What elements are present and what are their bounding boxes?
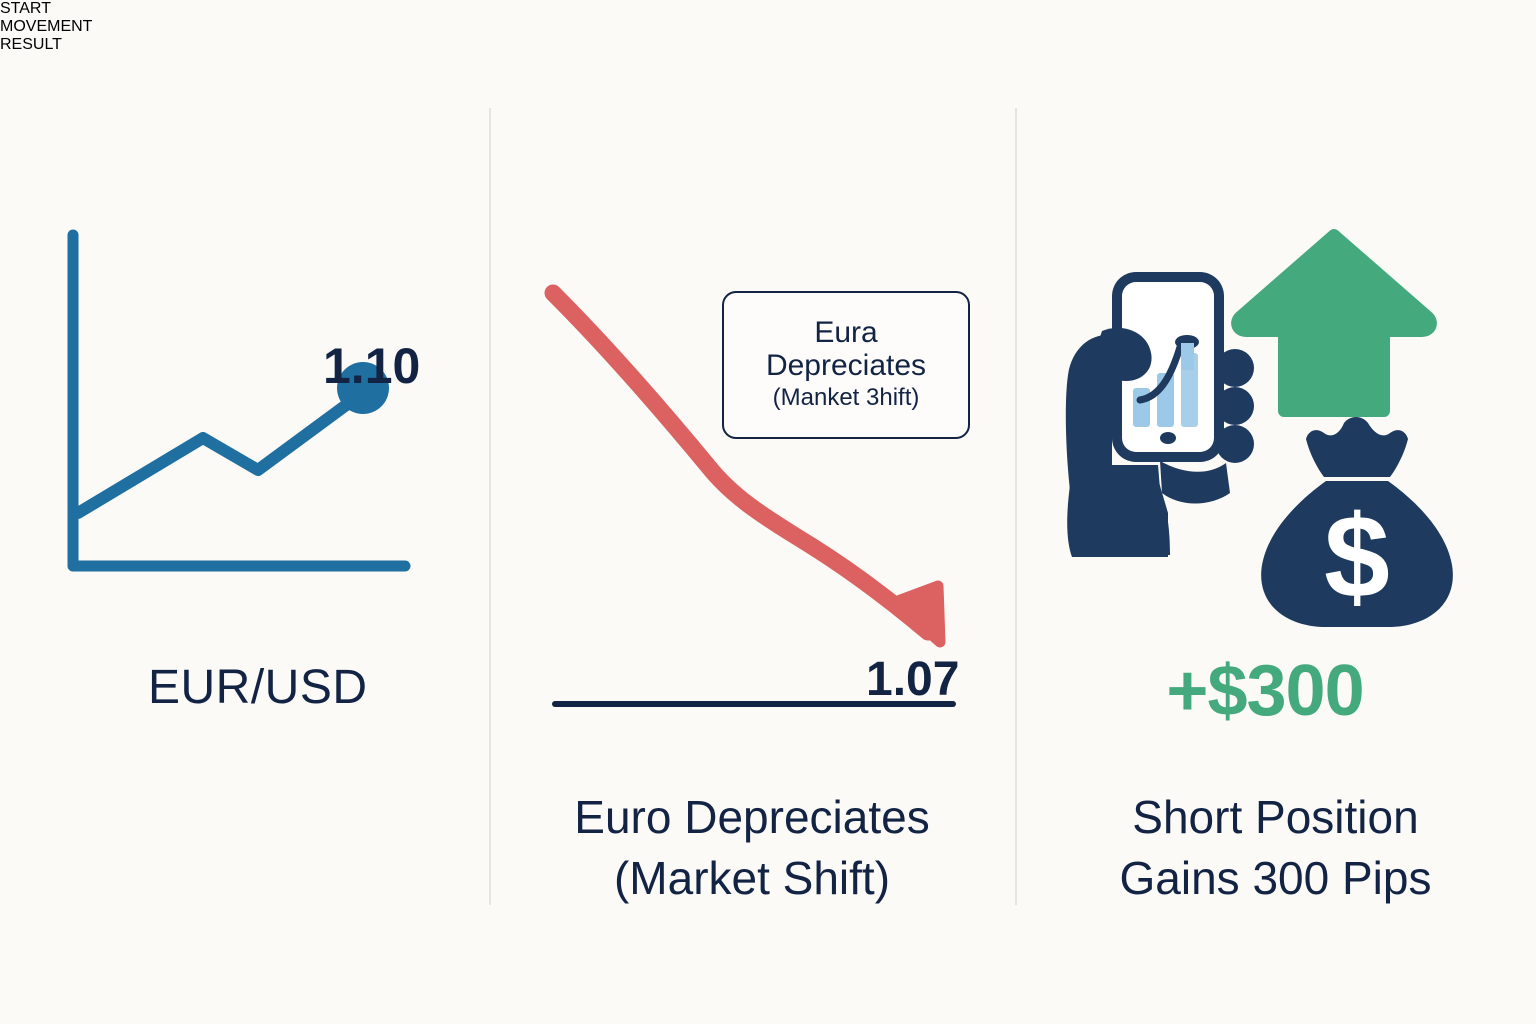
callout-line-1: Eura: [814, 317, 877, 349]
currency-pair-label: EUR/USD: [148, 660, 368, 715]
caption-movement: Euro Depreciates (Market Shift): [489, 787, 1015, 909]
hand-holding-phone-icon: [1066, 272, 1254, 557]
start-rate-value: 1.10: [323, 337, 420, 395]
panel-header-start: START: [0, 0, 1536, 18]
svg-text:$: $: [1324, 491, 1390, 623]
caption-movement-line-2: (Market Shift): [489, 848, 1015, 909]
movement-baseline-rule: [552, 701, 956, 707]
callout-line-3: (Manket 3hift): [773, 384, 920, 413]
caption-result-line-2: Gains 300 Pips: [1015, 848, 1536, 909]
callout-box-market-shift: Eura Depreciates (Manket 3hift): [722, 291, 970, 439]
profit-amount: +$300: [1015, 650, 1515, 732]
up-arrow-icon: [1237, 235, 1431, 411]
panel-divider-1: [489, 108, 491, 905]
infographic-canvas: START 1.10 EUR/USD MOVEMENT Eura Depreci…: [0, 0, 1536, 1024]
caption-result: Short Position Gains 300 Pips: [1015, 787, 1536, 909]
panel-header-movement: MOVEMENT: [0, 18, 1536, 36]
caption-result-line-1: Short Position: [1015, 787, 1536, 848]
panel-divider-2: [1015, 108, 1017, 905]
caption-movement-line-1: Euro Depreciates: [489, 787, 1015, 848]
movement-rate-value: 1.07: [866, 652, 959, 707]
panel-header-result: RESULT: [0, 36, 1536, 54]
result-icon-group: $: [1040, 225, 1470, 630]
callout-line-2: Depreciates: [766, 350, 926, 382]
line-chart-rising-icon: [60, 225, 460, 655]
money-bag-icon: $: [1261, 417, 1453, 627]
